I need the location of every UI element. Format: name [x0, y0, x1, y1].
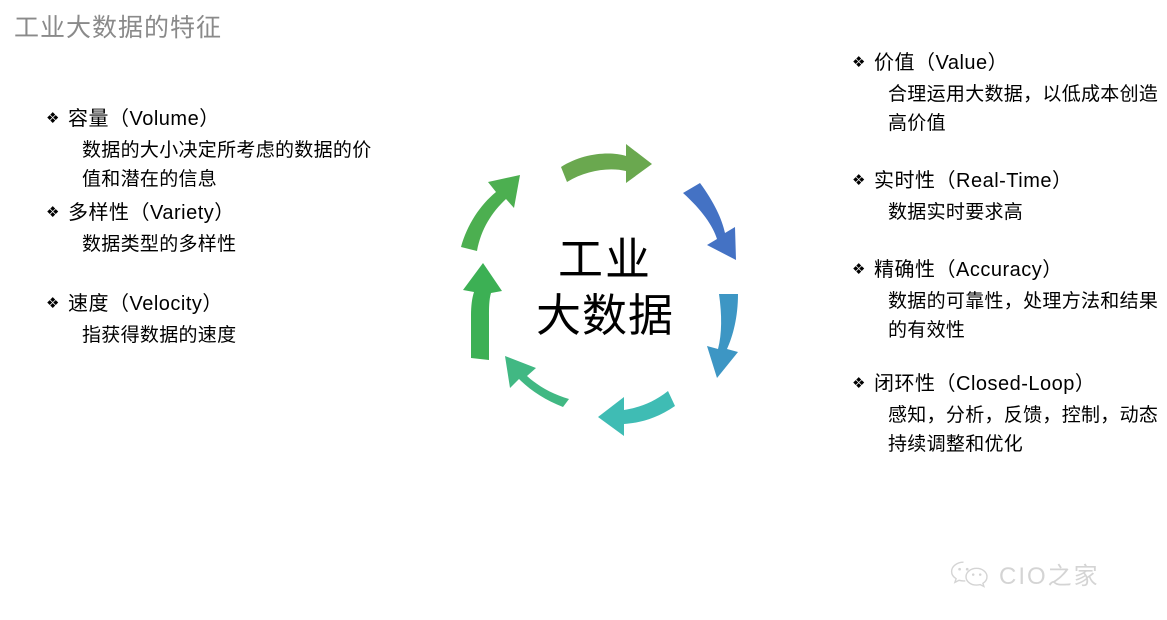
arrow-left-lower-icon [463, 263, 502, 360]
diamond-bullet-icon: ❖ [852, 369, 874, 399]
feature-description: 数据类型的多样性 [82, 230, 386, 259]
watermark-text: CIO之家 [999, 556, 1100, 591]
feature-heading: ❖ 精确性（Accuracy） [852, 255, 1162, 285]
diamond-bullet-icon: ❖ [852, 48, 874, 78]
feature-description: 数据的大小决定所考虑的数据的价值和潜在的信息 [82, 136, 386, 194]
feature-description: 数据实时要求高 [888, 198, 1162, 227]
feature-title: 容量（Volume） [68, 104, 220, 134]
watermark: CIO之家 [948, 556, 1100, 591]
feature-item-closed-loop: ❖ 闭环性（Closed-Loop） 感知，分析，反馈，控制，动态持续调整和优化 [852, 369, 1162, 459]
feature-description: 感知，分析，反馈，控制，动态持续调整和优化 [888, 401, 1162, 459]
feature-item-variety: ❖ 多样性（Variety） 数据类型的多样性 [46, 198, 386, 259]
feature-heading: ❖ 闭环性（Closed-Loop） [852, 369, 1162, 399]
arrow-right-upper-icon [683, 183, 736, 260]
arrow-left-upper-icon [461, 175, 520, 251]
right-feature-column: ❖ 价值（Value） 合理运用大数据，以低成本创造高价值 ❖ 实时性（Real… [852, 48, 1162, 459]
feature-item-value: ❖ 价值（Value） 合理运用大数据，以低成本创造高价值 [852, 48, 1162, 138]
feature-item-volume: ❖ 容量（Volume） 数据的大小决定所考虑的数据的价值和潜在的信息 [46, 104, 386, 194]
page-title: 工业大数据的特征 [14, 8, 222, 44]
arrow-right-lower-icon [707, 294, 738, 378]
arrow-bottom-right-icon [598, 391, 675, 436]
feature-description: 指获得数据的速度 [82, 321, 386, 350]
arrow-bottom-left-icon [505, 356, 569, 407]
feature-item-velocity: ❖ 速度（Velocity） 指获得数据的速度 [46, 289, 386, 350]
diamond-bullet-icon: ❖ [46, 198, 68, 228]
feature-heading: ❖ 价值（Value） [852, 48, 1162, 78]
feature-title: 价值（Value） [874, 48, 1008, 78]
feature-item-accuracy: ❖ 精确性（Accuracy） 数据的可靠性，处理方法和结果的有效性 [852, 255, 1162, 345]
feature-title: 多样性（Variety） [68, 198, 235, 228]
diamond-bullet-icon: ❖ [852, 166, 874, 196]
diamond-bullet-icon: ❖ [46, 104, 68, 134]
feature-description: 数据的可靠性，处理方法和结果的有效性 [888, 287, 1162, 345]
big-data-cycle-diagram: 工业 大数据 [430, 120, 780, 460]
left-feature-column: ❖ 容量（Volume） 数据的大小决定所考虑的数据的价值和潜在的信息 ❖ 多样… [46, 104, 386, 350]
feature-title: 速度（Velocity） [68, 289, 223, 319]
feature-heading: ❖ 容量（Volume） [46, 104, 386, 134]
arrow-top-right-icon [561, 144, 652, 183]
wechat-icon [948, 559, 992, 589]
feature-description: 合理运用大数据，以低成本创造高价值 [888, 80, 1162, 138]
feature-item-real-time: ❖ 实时性（Real-Time） 数据实时要求高 [852, 166, 1162, 227]
feature-title: 实时性（Real-Time） [874, 166, 1073, 196]
feature-heading: ❖ 实时性（Real-Time） [852, 166, 1162, 196]
diamond-bullet-icon: ❖ [46, 289, 68, 319]
diamond-bullet-icon: ❖ [852, 255, 874, 285]
feature-title: 精确性（Accuracy） [874, 255, 1063, 285]
feature-heading: ❖ 多样性（Variety） [46, 198, 386, 228]
feature-title: 闭环性（Closed-Loop） [874, 369, 1095, 399]
feature-heading: ❖ 速度（Velocity） [46, 289, 386, 319]
